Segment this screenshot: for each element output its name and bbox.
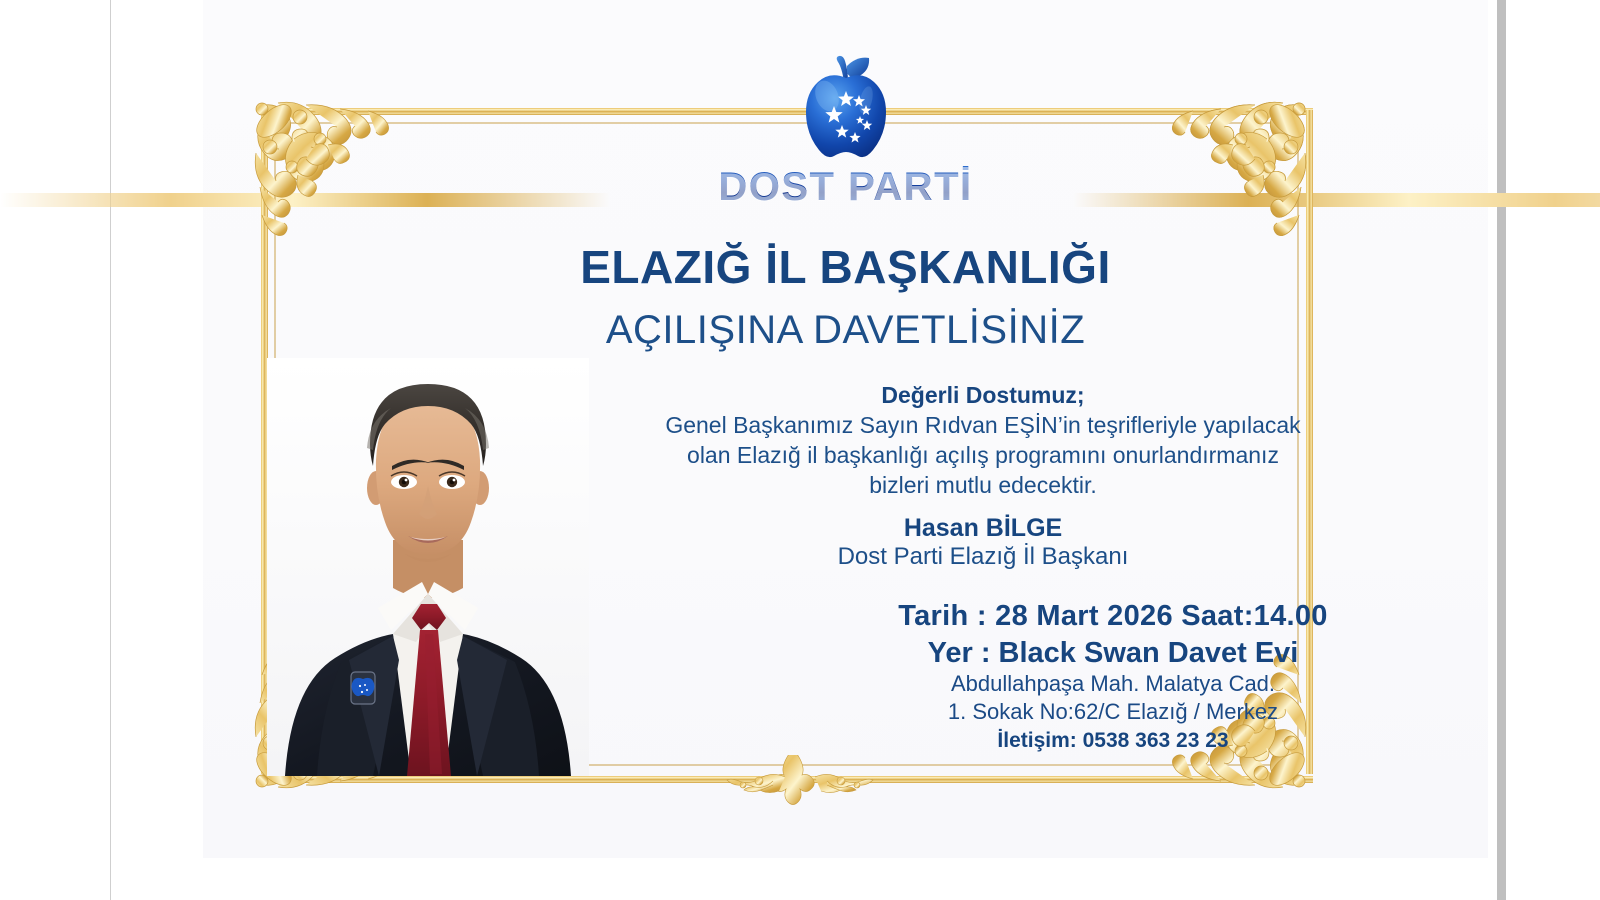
body-line-3: olan Elazığ il başkanlığı açılış program… <box>533 440 1433 470</box>
party-logo-block: DOST PARTİ <box>203 48 1488 210</box>
contact-line: İletişim: 0538 363 23 23 <box>733 729 1493 753</box>
apple-logo-icon <box>797 48 895 166</box>
invitation-body: Değerli Dostumuz; Genel Başkanımız Sayın… <box>533 380 1433 571</box>
party-wordmark: DOST PARTİ <box>203 165 1488 210</box>
chairman-name: Genel Başkanımız Sayın Rıdvan EŞİN <box>665 412 1057 438</box>
contact-phone[interactable]: 0538 363 23 23 <box>1083 729 1229 752</box>
page-title: ELAZIĞ İL BAŞKANLIĞI <box>203 240 1488 294</box>
contact-label: İletişim: <box>997 729 1076 752</box>
address-line-2: 1. Sokak No:62/C Elazığ / Merkez <box>733 698 1493 726</box>
body-line-2-rest: ’in teşrifleriyle yapılacak <box>1058 412 1301 438</box>
body-salutation: Değerli Dostumuz; <box>533 380 1433 410</box>
address-line-1: Abdullahpaşa Mah. Malatya Cad. <box>733 670 1493 698</box>
signature-name: Hasan BİLGE <box>533 514 1433 543</box>
event-venue: Yer : Black Swan Davet Evi <box>733 637 1493 670</box>
bottom-center-flourish <box>715 755 885 807</box>
body-line-2: Genel Başkanımız Sayın Rıdvan EŞİN’in te… <box>533 410 1433 440</box>
page-subtitle: AÇILIŞINA DAVETLİSİNİZ <box>203 308 1488 353</box>
invitation-card: DOST PARTİ ELAZIĞ İL BAŞKANLIĞI AÇILIŞIN… <box>203 0 1488 858</box>
body-line-4: bizleri mutlu edecektir. <box>533 470 1433 500</box>
event-details: Tarih : 28 Mart 2026 Saat:14.00 Yer : Bl… <box>733 600 1493 753</box>
viewer-left-edge <box>110 0 111 900</box>
event-date-time: Tarih : 28 Mart 2026 Saat:14.00 <box>733 600 1493 633</box>
signature-role: Dost Parti Elazığ İl Başkanı <box>533 543 1433 571</box>
vertical-scrollbar[interactable] <box>1497 0 1506 900</box>
